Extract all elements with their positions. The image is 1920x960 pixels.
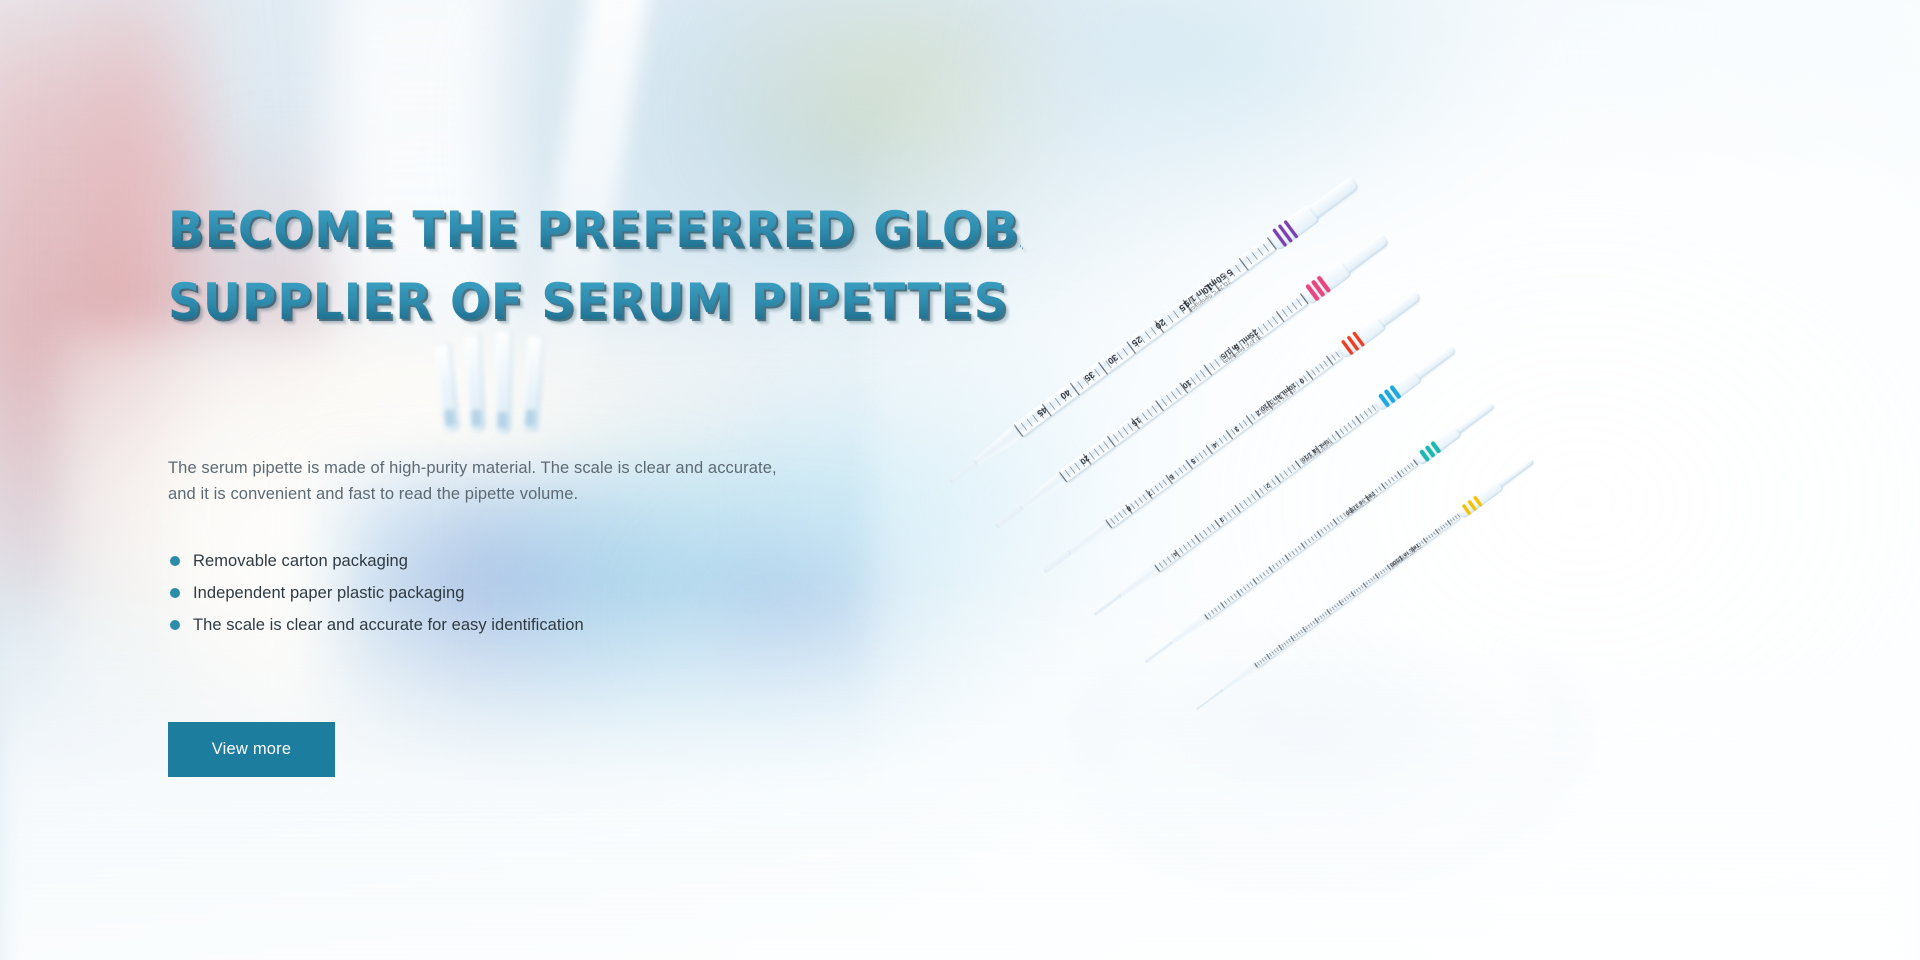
headline-line-1: BECOME THE PREFERRED GLOBAL [168,194,1021,266]
lead-line-1: The serum pipette is made of high-purity… [168,455,768,481]
pipette-10ml-nozzle [1043,551,1071,573]
pipette-5ml-filter-plug [1415,345,1457,379]
pipette-5ml-barrel: 4321 [1153,401,1380,573]
hero-banner: 4540353025201510550mL in 1/5TD 20°C Sero… [0,0,1920,960]
pipette-25ml: 201510525mL in 1/5TD 20°C Serological [1016,245,1372,514]
pipette-1ml-barrel [1254,512,1462,669]
list-item: Removable carton packaging [168,545,808,577]
pipette-2ml-barrel [1203,457,1420,621]
bullet-dot-icon [170,588,180,598]
feature-list: Removable carton packaging Independent p… [168,545,808,641]
pipette-25ml-nozzle [995,505,1024,528]
view-more-button[interactable]: View more [168,722,335,777]
list-item: The scale is clear and accurate for easy… [168,609,808,641]
pipette-2ml-tip [1167,614,1209,648]
bullet-dot-icon [170,556,180,566]
feature-label: The scale is clear and accurate for easy… [193,616,584,635]
feature-label: Removable carton packaging [193,552,408,571]
pipette-25ml-barrel: 2015105 [1058,292,1310,484]
pipette-25ml-filter-plug [1342,233,1390,273]
bullet-dot-icon [170,620,180,630]
pipette-50ml-filter-plug [1308,176,1359,219]
feature-label: Independent paper plastic packaging [193,584,464,603]
pipette-5ml-nozzle [1094,594,1122,616]
headline-line-2: SUPPLIER OF SERUM PIPETTES [168,266,1021,338]
pipette-5ml-tip [1116,564,1160,601]
lead-paragraph: The serum pipette is made of high-purity… [168,455,768,507]
hero-content: BECOME THE PREFERRED GLOBAL SUPPLIER OF … [168,0,988,960]
lead-line-2: and it is convenient and fast to read th… [168,481,768,507]
page-title: BECOME THE PREFERRED GLOBAL SUPPLIER OF … [168,194,988,338]
pipette-10ml-filter-plug [1377,290,1422,327]
pipette-2ml-nozzle [1145,642,1172,663]
pipette-25ml-tip [1016,472,1067,515]
pipette-10ml-barrel: 876543210 [1105,347,1345,529]
pipette-1ml-tip [1219,662,1259,694]
pipette-10ml-tip [1065,519,1112,559]
list-item: Independent paper plastic packaging [168,577,808,609]
